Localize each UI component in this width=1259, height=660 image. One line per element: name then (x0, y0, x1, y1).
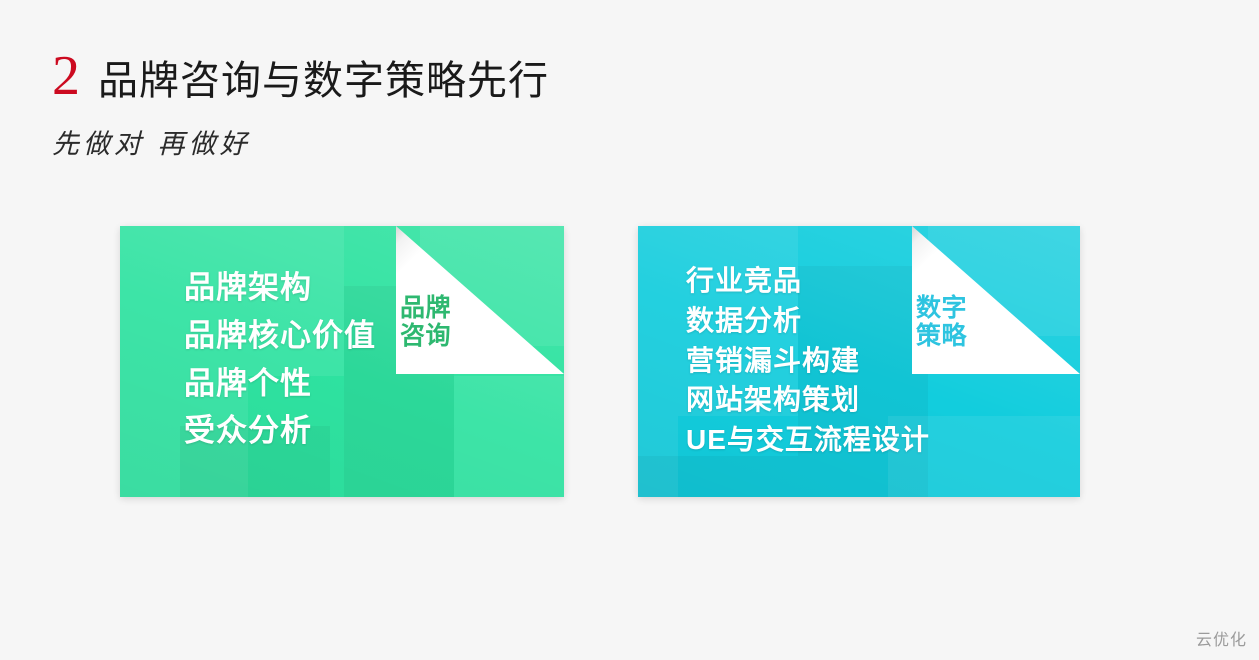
page-subtitle: 先做对 再做好 (52, 122, 852, 161)
list-item: 网站架构策划 (686, 382, 1080, 418)
list-item: 数据分析 (686, 303, 1080, 339)
list-item: 品牌个性 (184, 364, 564, 404)
list-item: 受众分析 (184, 411, 564, 451)
list-item: 品牌核心价值 (184, 316, 564, 356)
card-item-list: 行业竞品 数据分析 营销漏斗构建 网站架构策划 UE与交互流程设计 (638, 226, 1080, 497)
list-item: 营销漏斗构建 (686, 343, 1080, 379)
title-row: 2 品牌咨询与数字策略先行 (52, 48, 852, 104)
card-digital-strategy[interactable]: 行业竞品 数据分析 营销漏斗构建 网站架构策划 UE与交互流程设计 数字 策略 (638, 226, 1080, 497)
watermark: 云优化 (1196, 626, 1247, 650)
card-brand-consulting[interactable]: 品牌架构 品牌核心价值 品牌个性 受众分析 品牌 咨询 (120, 226, 564, 497)
card-item-list: 品牌架构 品牌核心价值 品牌个性 受众分析 (120, 226, 564, 497)
list-item: UE与交互流程设计 (686, 422, 1080, 458)
list-item: 行业竞品 (686, 263, 1080, 299)
list-item: 品牌架构 (184, 268, 564, 308)
section-number: 2 (52, 48, 80, 104)
page-title: 品牌咨询与数字策略先行 (98, 60, 549, 102)
slide-heading: 2 品牌咨询与数字策略先行 先做对 再做好 (52, 48, 852, 161)
